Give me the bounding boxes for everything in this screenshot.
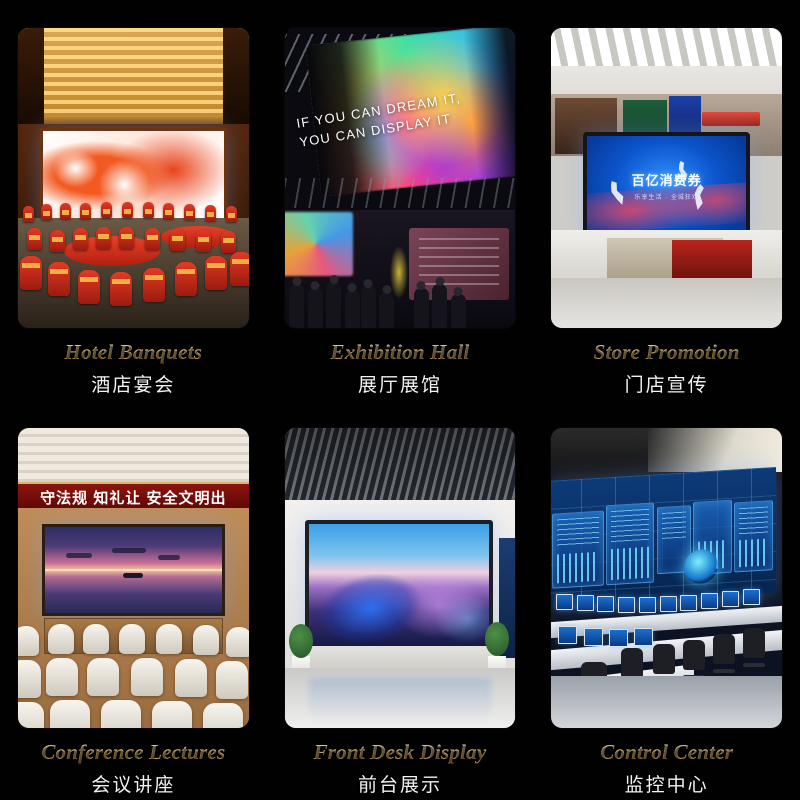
cloud bbox=[112, 548, 146, 553]
operator-monitor bbox=[558, 626, 577, 644]
photo-control-center[interactable] bbox=[551, 428, 782, 728]
covered-chair bbox=[46, 658, 78, 696]
visitor bbox=[361, 286, 376, 328]
operator-monitor bbox=[701, 593, 718, 609]
banquet-chair bbox=[73, 228, 88, 250]
caption-front-desk-display: Front Desk Display 前台展示 bbox=[285, 740, 516, 797]
photo-exhibition-hall[interactable]: IF YOU CAN DREAM IT, YOU CAN DISPLAY IT bbox=[285, 28, 516, 328]
led-screen-lecture bbox=[42, 524, 225, 616]
screen-floor-reflection bbox=[309, 678, 492, 722]
horizon-line bbox=[45, 569, 222, 571]
visitor bbox=[379, 292, 394, 328]
audience-seating bbox=[18, 618, 249, 728]
caption-en: Control Center bbox=[551, 740, 782, 765]
screen-headline: 百亿消费券 bbox=[587, 170, 746, 189]
banquet-chair bbox=[143, 268, 165, 302]
operator-chair bbox=[713, 634, 735, 664]
polished-floor bbox=[551, 278, 782, 328]
ceiling-light-cove bbox=[648, 428, 782, 472]
caption-en: Conference Lectures bbox=[18, 740, 249, 765]
caption-zh: 展厅展馆 bbox=[285, 370, 516, 397]
covered-chair bbox=[216, 661, 248, 699]
banquet-chair bbox=[80, 203, 91, 219]
photo-conference-lectures[interactable]: 守法规 知礼让 安全文明出 bbox=[18, 428, 249, 728]
banquet-chair bbox=[101, 202, 112, 218]
caption-zh: 监控中心 bbox=[551, 770, 782, 797]
operator-monitor bbox=[597, 596, 614, 612]
banquet-chair bbox=[230, 252, 248, 286]
banquet-seating bbox=[18, 178, 249, 328]
photo-hotel-banquets[interactable] bbox=[18, 28, 249, 328]
operator-chair bbox=[621, 648, 643, 678]
operator-monitor bbox=[577, 595, 594, 611]
operator-chair bbox=[683, 640, 705, 670]
banquet-chair bbox=[221, 231, 236, 253]
application-scenarios-grid: Hotel Banquets 酒店宴会 IF YOU CAN DREAM IT,… bbox=[0, 0, 800, 800]
banquet-chair bbox=[78, 270, 100, 304]
covered-chair bbox=[87, 658, 119, 696]
covered-chair bbox=[18, 660, 41, 698]
operator-monitor bbox=[609, 629, 628, 647]
covered-chair bbox=[175, 659, 207, 697]
scenario-card-exhibition-hall[interactable]: IF YOU CAN DREAM IT, YOU CAN DISPLAY IT bbox=[267, 0, 534, 400]
led-screen-mall: 百亿消费券 乐享生活 · 全城狂欢 bbox=[583, 132, 750, 240]
banquet-chair bbox=[205, 205, 216, 221]
caption-en: Hotel Banquets bbox=[18, 340, 249, 365]
operator-monitor bbox=[660, 596, 677, 612]
control-room-floor bbox=[551, 676, 782, 728]
caption-hotel-banquets: Hotel Banquets 酒店宴会 bbox=[18, 340, 249, 397]
banquet-chair bbox=[184, 204, 195, 220]
covered-chair bbox=[226, 627, 249, 657]
shop-signage bbox=[702, 112, 760, 126]
visitor bbox=[414, 288, 429, 328]
operator-monitor bbox=[584, 628, 603, 646]
caption-store-promotion: Store Promotion 门店宣传 bbox=[551, 340, 782, 397]
banquet-chair bbox=[27, 228, 42, 250]
dashboard-tile bbox=[607, 502, 655, 585]
banquet-chair bbox=[196, 230, 211, 252]
visitor bbox=[451, 294, 466, 328]
slatted-ceiling bbox=[18, 428, 249, 486]
golden-ceiling bbox=[18, 28, 249, 124]
banquet-chair bbox=[170, 229, 185, 251]
scenario-card-hotel-banquets[interactable]: Hotel Banquets 酒店宴会 bbox=[0, 0, 267, 400]
scenario-card-store-promotion[interactable]: 百亿消费券 乐享生活 · 全城狂欢 Store Promotion 门店宣传 bbox=[533, 0, 800, 400]
operator-monitor bbox=[556, 594, 573, 610]
banquet-chair bbox=[110, 272, 132, 306]
led-screen-lobby bbox=[305, 520, 494, 650]
red-store-interior bbox=[672, 240, 752, 280]
banquet-chair bbox=[20, 256, 42, 290]
visitor bbox=[432, 284, 447, 328]
ceiling-side-left bbox=[18, 28, 44, 128]
banquet-chair bbox=[41, 204, 52, 220]
boat-silhouette bbox=[123, 573, 143, 578]
cloud bbox=[66, 553, 92, 558]
operator-chair bbox=[743, 628, 765, 658]
scenario-card-conference-lectures[interactable]: 守法规 知礼让 安全文明出 bbox=[0, 400, 267, 800]
cloud bbox=[158, 555, 180, 560]
topiary-ball bbox=[485, 622, 509, 656]
banquet-chair bbox=[145, 228, 160, 250]
skylight bbox=[551, 28, 782, 66]
caption-en: Front Desk Display bbox=[285, 740, 516, 765]
caption-zh: 酒店宴会 bbox=[18, 370, 249, 397]
banquet-chair bbox=[96, 227, 111, 249]
covered-chair bbox=[50, 700, 90, 728]
operator-monitor bbox=[639, 597, 656, 613]
banquet-chair bbox=[226, 206, 237, 222]
banquet-chair bbox=[175, 262, 197, 296]
covered-chair bbox=[101, 700, 141, 728]
caption-zh: 门店宣传 bbox=[551, 370, 782, 397]
operator-monitor bbox=[743, 589, 760, 605]
operator-chair bbox=[653, 644, 675, 674]
caption-control-center: Control Center 监控中心 bbox=[551, 740, 782, 797]
banquet-chair bbox=[50, 230, 65, 252]
dashboard-tile bbox=[552, 510, 604, 588]
covered-chair bbox=[83, 624, 109, 654]
banquet-chair bbox=[163, 203, 174, 219]
caption-exhibition-hall: Exhibition Hall 展厅展馆 bbox=[285, 340, 516, 397]
banquet-chair bbox=[122, 202, 133, 218]
photo-front-desk-display[interactable] bbox=[285, 428, 516, 728]
covered-chair bbox=[119, 624, 145, 654]
caption-zh: 会议讲座 bbox=[18, 770, 249, 797]
operator-monitor bbox=[634, 628, 653, 646]
covered-chair bbox=[48, 624, 74, 654]
banquet-chair bbox=[119, 227, 134, 249]
lighting-truss-mid bbox=[285, 178, 516, 208]
scenario-card-control-center[interactable]: Control Center 监控中心 bbox=[533, 400, 800, 800]
covered-chair bbox=[18, 702, 44, 728]
operator-monitor bbox=[680, 595, 697, 611]
ceiling-side-right bbox=[223, 28, 249, 128]
caption-zh: 前台展示 bbox=[285, 770, 516, 797]
caption-en: Exhibition Hall bbox=[285, 340, 516, 365]
covered-chair bbox=[152, 701, 192, 728]
covered-chair bbox=[193, 625, 219, 655]
banquet-chair bbox=[60, 203, 71, 219]
banquet-chair bbox=[205, 256, 227, 290]
photo-store-promotion[interactable]: 百亿消费券 乐享生活 · 全城狂欢 bbox=[551, 28, 782, 328]
banquet-chair bbox=[23, 206, 34, 222]
visitor-crowd bbox=[285, 268, 516, 328]
covered-chair bbox=[18, 626, 39, 656]
visitor bbox=[308, 288, 323, 328]
covered-chair bbox=[131, 658, 163, 696]
ceiling-shadow bbox=[285, 428, 516, 500]
side-led-screen bbox=[285, 212, 353, 276]
covered-chair bbox=[203, 703, 243, 728]
visitor bbox=[289, 284, 304, 328]
dashboard-tile bbox=[735, 500, 774, 572]
banquet-chair bbox=[48, 262, 70, 296]
visitor bbox=[326, 282, 341, 328]
operator-monitor bbox=[618, 597, 635, 613]
topiary-ball bbox=[289, 624, 313, 658]
caption-conference-lectures: Conference Lectures 会议讲座 bbox=[18, 740, 249, 797]
banquet-chair bbox=[143, 202, 154, 218]
caption-en: Store Promotion bbox=[551, 340, 782, 365]
scenario-card-front-desk-display[interactable]: Front Desk Display 前台展示 bbox=[267, 400, 534, 800]
operator-monitor bbox=[722, 591, 739, 607]
visitor bbox=[345, 290, 360, 328]
screen-subtext: 乐享生活 · 全城狂欢 bbox=[587, 192, 746, 201]
covered-chair bbox=[156, 624, 182, 654]
